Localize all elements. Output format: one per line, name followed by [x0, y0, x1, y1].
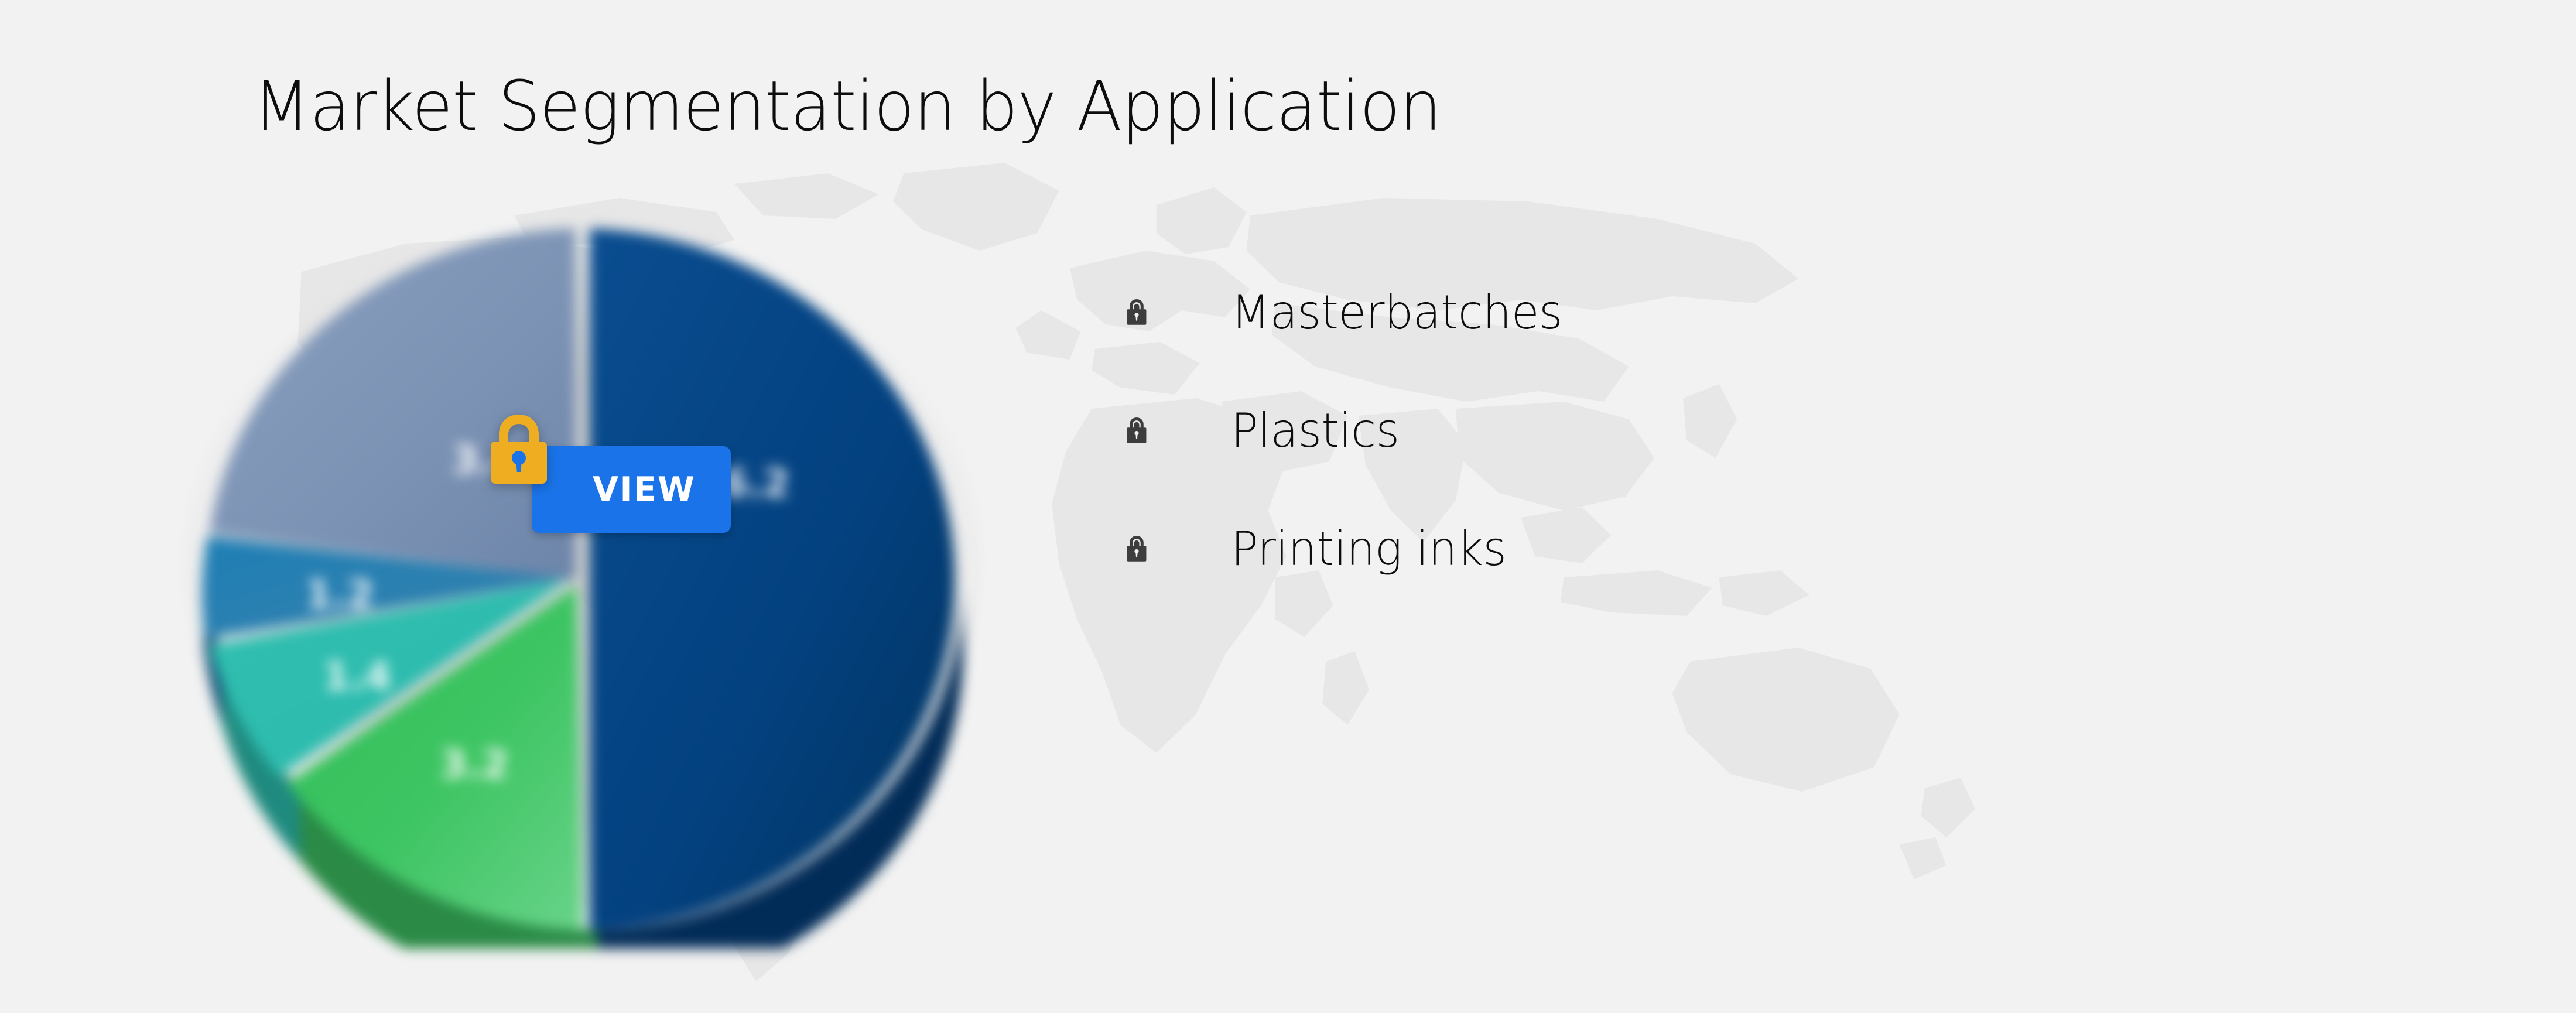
view-button-label: VIEW [593, 470, 696, 509]
legend-item-plastics[interactable]: Plastics [1124, 410, 1572, 452]
legend-item-label: Printing inks [1231, 526, 1506, 573]
legend-item-masterbatches[interactable]: Masterbatches [1124, 292, 1572, 334]
page-title: Market Segmentation by Application [253, 66, 1441, 147]
padlock-icon [1124, 298, 1149, 327]
pie-label-2: 1.4 [323, 654, 392, 699]
legend-item-printing-inks[interactable]: Printing inks [1124, 528, 1572, 570]
padlock-icon [486, 410, 552, 492]
view-overlay: VIEW [486, 410, 732, 556]
pie-label-3: 1.2 [306, 572, 374, 617]
padlock-icon [1124, 416, 1149, 446]
chart-legend: Masterbatches Plastics Printing inks [1124, 292, 1572, 570]
legend-item-label: Plastics [1231, 408, 1400, 454]
padlock-icon [1124, 535, 1149, 564]
legend-item-label: Masterbatches [1231, 289, 1562, 336]
pie-label-1: 3.2 [440, 742, 509, 787]
pie-chart: 6.2 3.2 1.4 1.2 3.4 [146, 170, 1025, 949]
view-button[interactable]: VIEW [532, 446, 731, 533]
